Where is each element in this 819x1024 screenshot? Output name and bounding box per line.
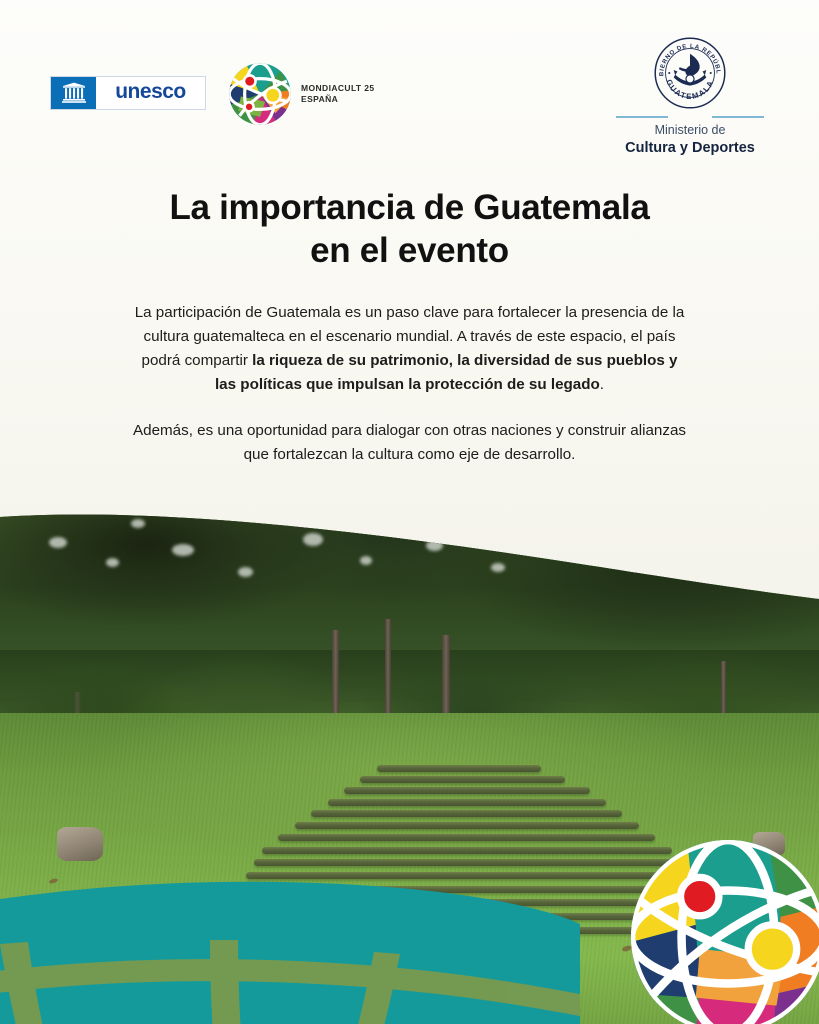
ministry-label-line-2: Cultura y Deportes [605, 139, 775, 157]
poster-canvas: unesco [0, 0, 819, 1024]
poster-header: unesco [0, 0, 819, 175]
photo-stone [57, 827, 103, 861]
mondiacult-logo: MONDIACULT 25 ESPAÑA [228, 62, 375, 126]
mondiacult-globe-icon [228, 62, 292, 126]
ministry-divider-rules [605, 116, 775, 118]
paragraph-1-tail: . [600, 376, 604, 393]
guatemala-ministry-logo: GOBIERNO DE LA REPÚBLICA GUATEMALA [605, 36, 775, 157]
page-title-line-2: en el evento [310, 231, 509, 270]
poster-content: La importancia de Guatemala en el evento… [0, 186, 819, 467]
rule-left [616, 116, 668, 118]
unesco-temple-icon [51, 77, 96, 109]
paragraph-2: Además, es una oportunidad para dialogar… [132, 419, 687, 467]
paragraph-1: La participación de Guatemala es un paso… [132, 301, 687, 397]
unesco-wordmark: unesco [96, 77, 205, 109]
page-title-line-1: La importancia de Guatemala [169, 188, 649, 227]
paragraph-1-bold: la riqueza de su patrimonio, la diversid… [215, 352, 678, 393]
ministry-label-line-1: Ministerio de [605, 123, 775, 139]
mondiacult-wordmark: MONDIACULT 25 ESPAÑA [301, 83, 375, 106]
page-title: La importancia de Guatemala en el evento [0, 186, 819, 273]
unesco-logo: unesco [50, 76, 206, 110]
body-copy: La participación de Guatemala es un paso… [0, 301, 819, 467]
guatemala-national-seal-icon: GOBIERNO DE LA REPÚBLICA GUATEMALA [653, 36, 727, 110]
mondiacult-line-2: ESPAÑA [301, 94, 375, 105]
mondiacult-line-1: MONDIACULT 25 [301, 83, 375, 94]
mondiacult-globe-large-icon [627, 836, 819, 1024]
rule-right [712, 116, 764, 118]
